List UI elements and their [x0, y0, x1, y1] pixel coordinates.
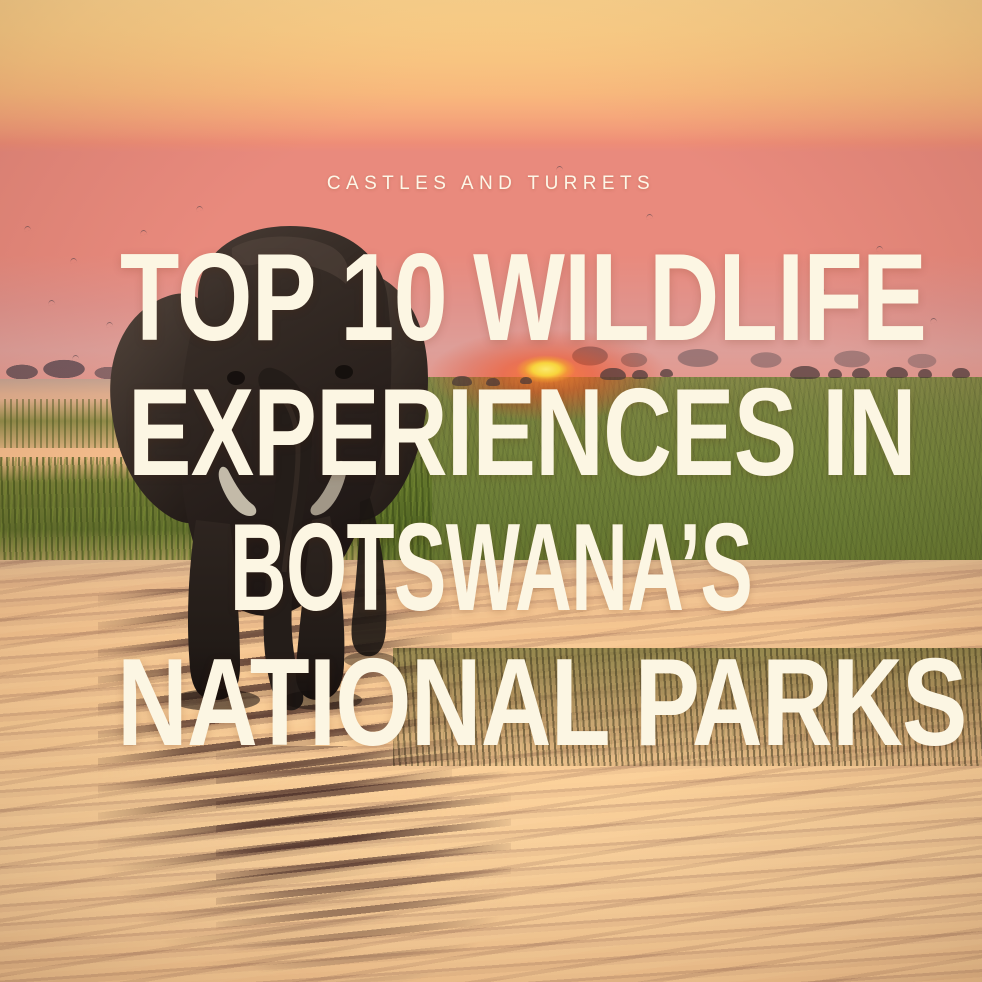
headline-line-3: BOTSWANA’S	[191, 501, 791, 636]
headline-line-2: EXPERIENCES IN	[128, 366, 854, 501]
headline-line-4: NATIONAL PARKS	[117, 636, 865, 771]
pin-graphic-canvas: CASTLES AND TURRETS TOP 10 WILDLIFE EXPE…	[0, 0, 982, 982]
brand-eyebrow: CASTLES AND TURRETS	[0, 174, 982, 193]
headline-line-1: TOP 10 WILDLIFE	[120, 231, 862, 366]
headline: TOP 10 WILDLIFE EXPERIENCES IN BOTSWANA’…	[0, 231, 982, 771]
text-overlay: CASTLES AND TURRETS TOP 10 WILDLIFE EXPE…	[0, 0, 982, 771]
